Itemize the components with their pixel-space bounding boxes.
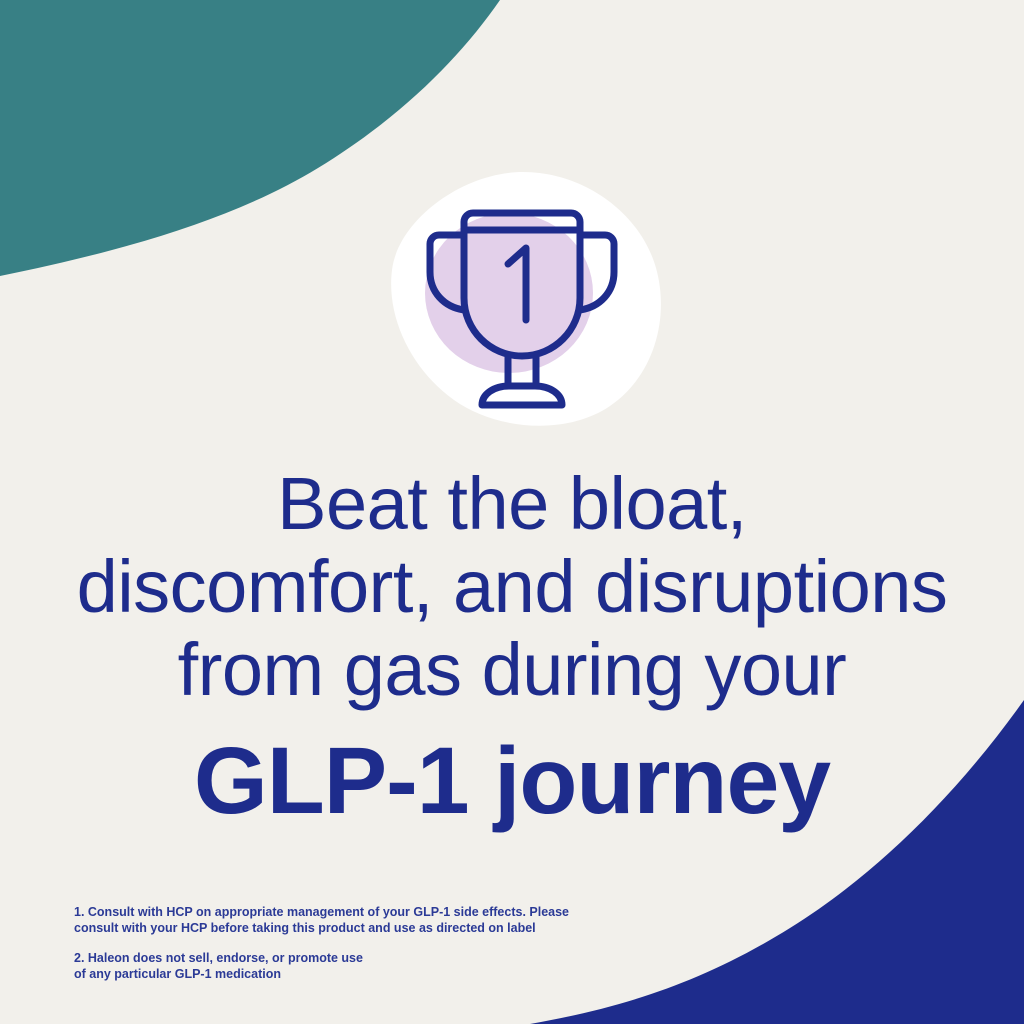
footnote-2-line-2: of any particular GLP-1 medication — [74, 966, 614, 982]
footnote-2-line-1: 2. Haleon does not sell, endorse, or pro… — [74, 950, 614, 966]
footnote-1-line-2: consult with your HCP before taking this… — [74, 920, 614, 936]
footnote-1-line-1: 1. Consult with HCP on appropriate manag… — [74, 904, 614, 920]
page-title: Beat the bloat, discomfort, and disrupti… — [0, 462, 1024, 831]
headline-line-2: discomfort, and disruptions — [0, 545, 1024, 628]
footnote-1: 1. Consult with HCP on appropriate manag… — [74, 904, 614, 936]
headline-line-3: from gas during your — [0, 628, 1024, 711]
headline-emphasis: GLP-1 journey — [0, 731, 1024, 831]
footnotes: 1. Consult with HCP on appropriate manag… — [74, 904, 614, 982]
headline-line-1: Beat the bloat, — [0, 462, 1024, 545]
footnote-2: 2. Haleon does not sell, endorse, or pro… — [74, 950, 614, 982]
trophy-badge — [378, 168, 668, 426]
promo-poster: Beat the bloat, discomfort, and disrupti… — [0, 0, 1024, 1024]
